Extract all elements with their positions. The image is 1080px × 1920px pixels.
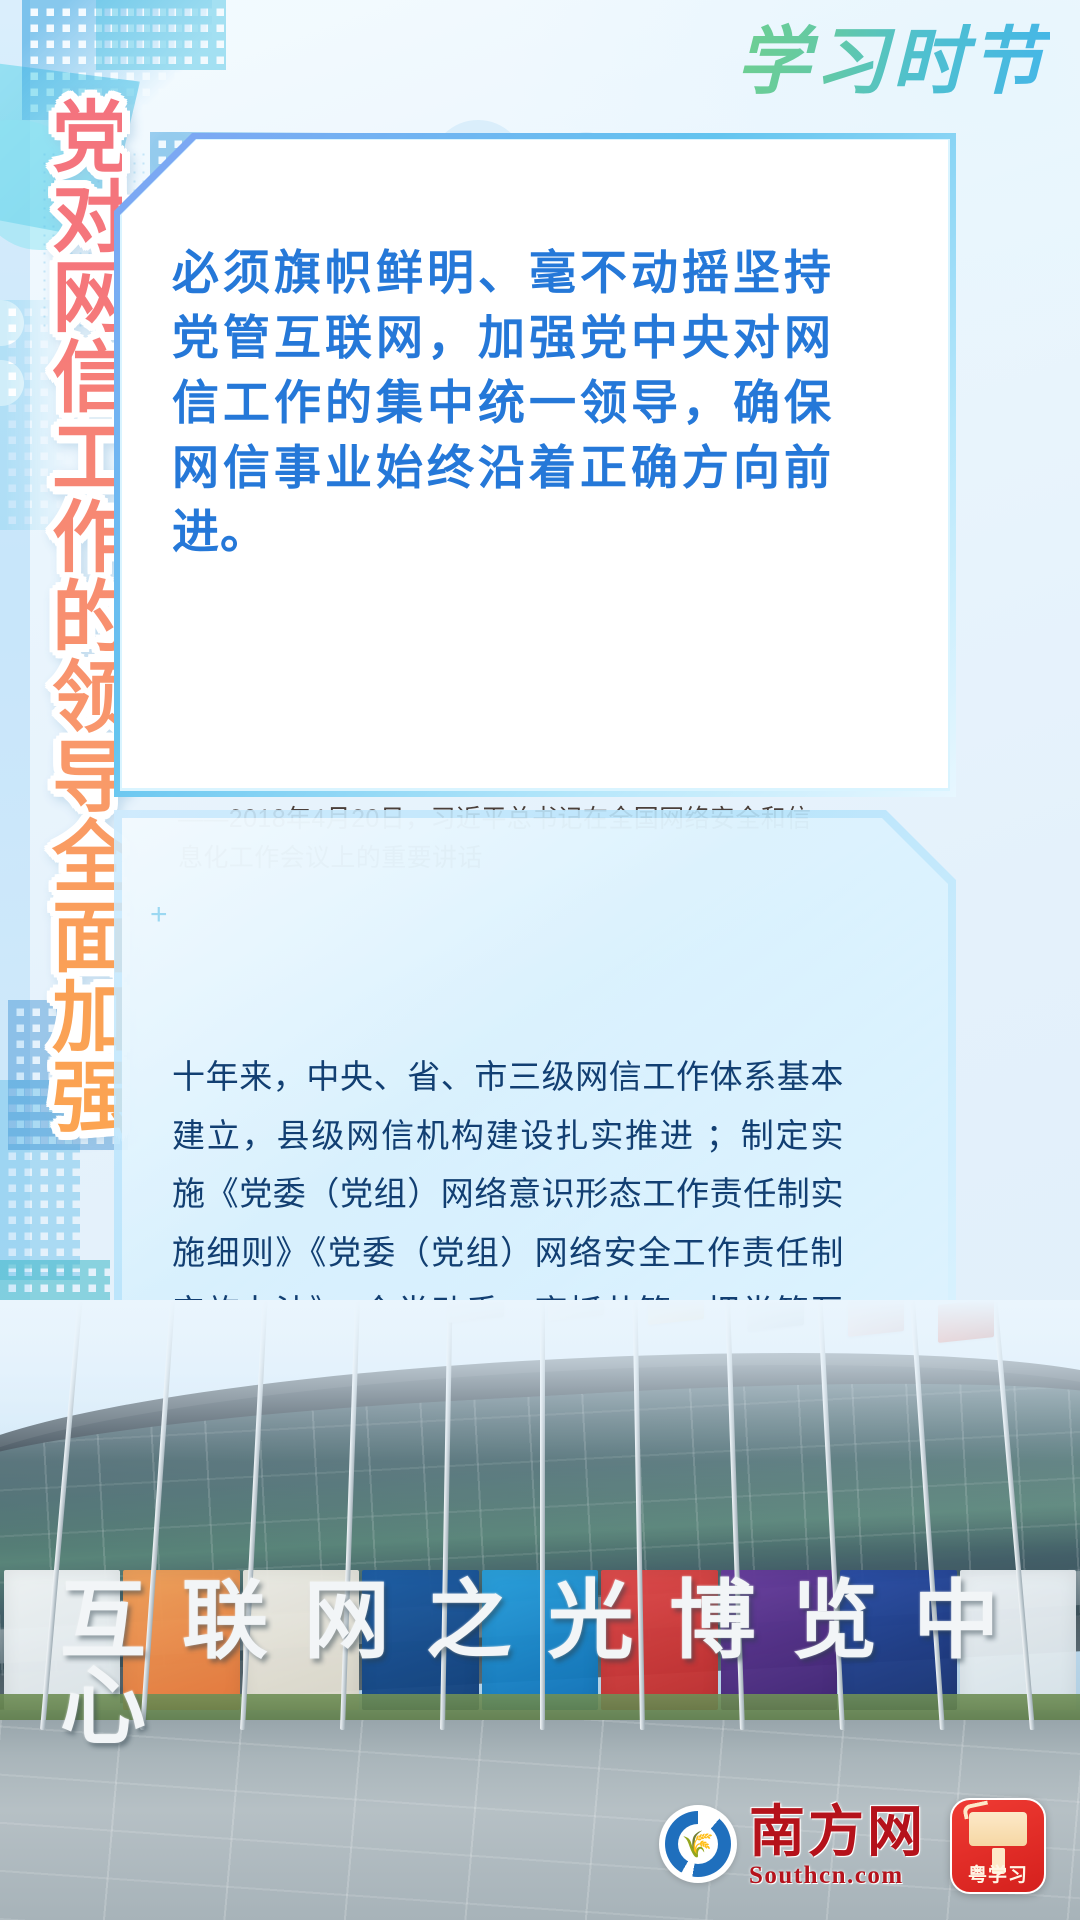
brand-logo: 学习时节	[734, 22, 1050, 104]
southcn-cn-name: 南方网	[749, 1805, 926, 1861]
vertical-poster-title: 党对网信工作的领导全面加强	[26, 96, 122, 1176]
southcn-logo[interactable]: 🌾 南方网 Southcn.com	[659, 1805, 926, 1888]
poster-root: 学习时节 党对网信工作的领导全面加强 必须旗帜鲜明、毫不动摇坚持党管互联网，加强…	[0, 0, 1080, 1920]
yuexuexi-app-logo[interactable]: 粤学习	[950, 1798, 1046, 1894]
southcn-en-name: Southcn.com	[749, 1863, 926, 1888]
quote-text: 必须旗帜鲜明、毫不动摇坚持党管互联网，加强党中央对网信工作的集中统一领导，确保网…	[172, 242, 832, 566]
book-icon	[969, 1812, 1027, 1846]
wheat-circle-icon: 🌾	[659, 1805, 737, 1883]
plus-decor-icon: +	[150, 900, 168, 930]
yuexuexi-label: 粤学习	[952, 1866, 1044, 1885]
decor-mosaic-top-left-2	[96, 0, 226, 70]
footer-logos: 🌾 南方网 Southcn.com 粤学习	[659, 1798, 1046, 1894]
